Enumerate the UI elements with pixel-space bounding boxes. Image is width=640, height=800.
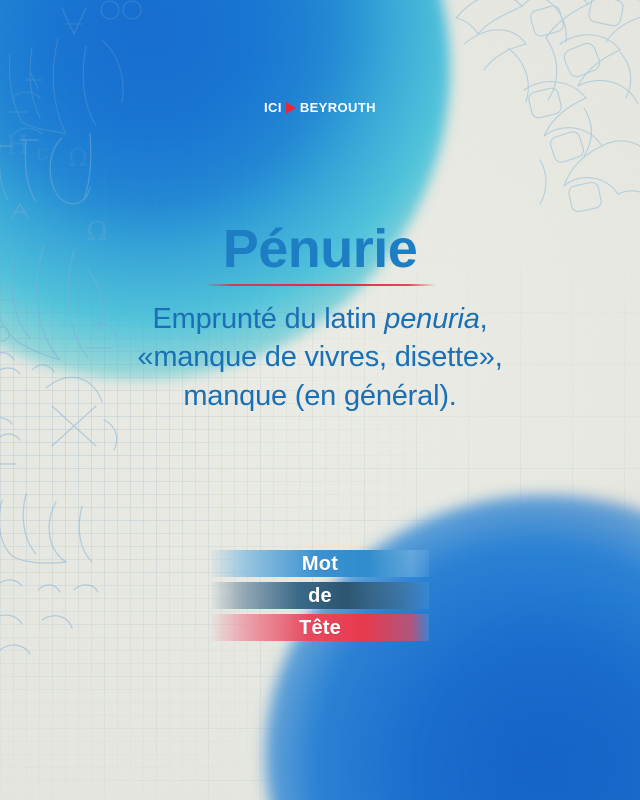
definition-line-1: Emprunté du latin penuria,: [40, 300, 600, 338]
mot-de-tete-badge: Mot de Tête: [211, 550, 429, 641]
brand-logo: ICI BEYROUTH: [0, 101, 640, 114]
definition-text: Emprunté du latin penuria, «manque de vi…: [0, 300, 640, 415]
badge-label-de: de: [308, 586, 332, 606]
play-triangle-icon: [286, 102, 296, 114]
definition-line-2: «manque de vivres, disette»,: [40, 338, 600, 376]
definition-line-1-suffix: ,: [480, 303, 488, 335]
definition-etymon: penuria: [384, 303, 479, 335]
poster-canvas: H c Ω: [0, 0, 640, 800]
badge-label-tete: Tête: [299, 618, 341, 638]
definition-line-3: manque (en général).: [40, 377, 600, 415]
badge-bar-de: de: [211, 582, 429, 609]
brand-name-right: BEYROUTH: [300, 101, 376, 114]
headword-title: Pénurie: [0, 222, 640, 276]
headword-underline: [204, 284, 436, 286]
brand-name-left: ICI: [264, 101, 282, 114]
badge-bar-mot: Mot: [211, 550, 429, 577]
badge-bar-tete: Tête: [211, 614, 429, 641]
badge-label-mot: Mot: [302, 554, 338, 574]
definition-line-1-prefix: Emprunté du latin: [153, 303, 385, 335]
